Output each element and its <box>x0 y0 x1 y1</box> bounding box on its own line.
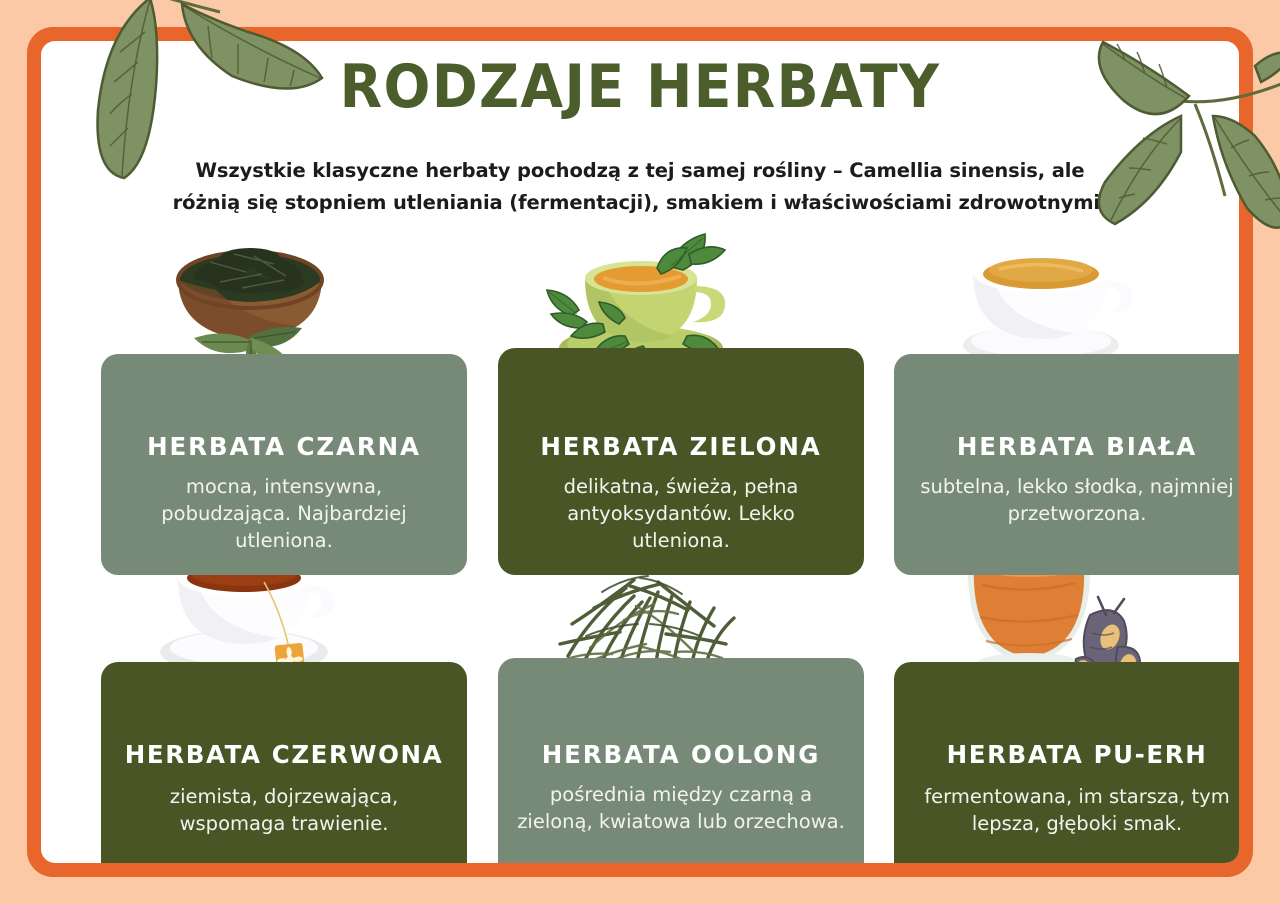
white-teacup-icon <box>943 237 1139 370</box>
card-description: delikatna, świeża, pełna antyoksydantów.… <box>498 474 864 555</box>
card-title: HERBATA ZIELONA <box>498 432 864 461</box>
card-herbata-czerwona[interactable]: HERBATA CZERWONA ziemista, dojrzewająca,… <box>101 662 467 863</box>
card-herbata-oolong[interactable]: HERBATA OOLONG pośrednia między czarną a… <box>498 658 864 863</box>
poster-root: HERBATA CZARNA mocna, intensywna, pobudz… <box>0 0 1280 904</box>
card-description: ziemista, dojrzewająca, wspomaga trawien… <box>101 784 467 838</box>
card-description: mocna, intensywna, pobudzająca. Najbardz… <box>101 474 467 555</box>
card-title: HERBATA OOLONG <box>498 740 864 769</box>
card-herbata-pu-erh[interactable]: HERBATA PU-ERH fermentowana, im starsza,… <box>894 662 1239 863</box>
bowl-of-black-tea-leaves-icon <box>150 228 350 368</box>
page-subtitle: Wszystkie klasyczne herbaty pochodzą z t… <box>160 155 1120 218</box>
card-title: HERBATA CZARNA <box>101 432 467 461</box>
card-description: fermentowana, im starsza, tym lepsza, gł… <box>894 784 1239 838</box>
card-title: HERBATA BIAŁA <box>894 432 1239 461</box>
card-description: pośrednia między czarną a zieloną, kwiat… <box>498 782 864 836</box>
page-title: RODZAJE HERBATY <box>51 57 1229 117</box>
card-description: subtelna, lekko słodka, najmniej przetwo… <box>894 474 1239 528</box>
card-herbata-biala[interactable]: HERBATA BIAŁA subtelna, lekko słodka, na… <box>894 354 1239 575</box>
card-herbata-czarna[interactable]: HERBATA CZARNA mocna, intensywna, pobudz… <box>101 354 467 575</box>
card-title: HERBATA CZERWONA <box>101 740 467 769</box>
card-title: HERBATA PU-ERH <box>894 740 1239 769</box>
card-herbata-zielona[interactable]: HERBATA ZIELONA delikatna, świeża, pełna… <box>498 348 864 575</box>
